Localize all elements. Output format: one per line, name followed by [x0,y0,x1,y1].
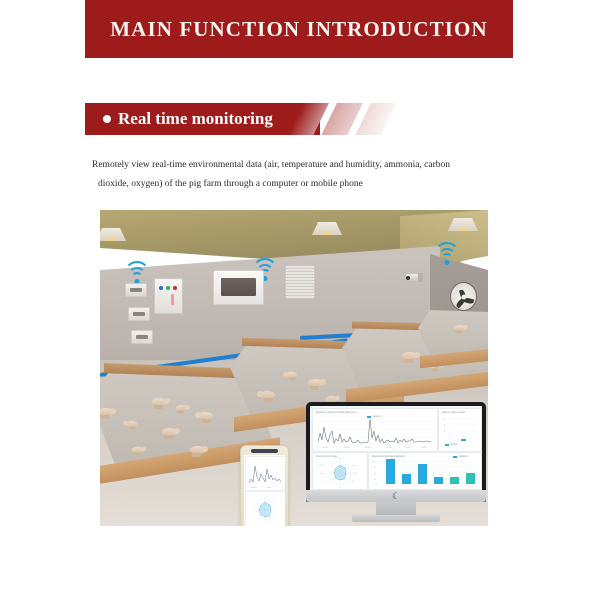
pig-pen-4 [418,310,488,368]
phone-screen: MorningNight [244,455,285,526]
pig-13 [402,352,417,360]
svg-text:B: B [405,487,407,489]
section-title: Real time monitoring [118,109,273,129]
led-indicator-green [166,286,170,290]
svg-text:PM2.5: PM2.5 [319,465,324,467]
pig-8 [190,446,205,454]
pig-16 [454,325,466,331]
pig-10 [308,379,323,387]
phone-radar-chart-svg [246,492,285,526]
svg-text:60: 60 [374,473,377,475]
wifi-signal-icon-3 [434,248,460,265]
pig-6 [100,408,113,416]
gauge-chart-card[interactable]: Device online status 108 [438,408,482,452]
svg-text:40: 40 [374,479,377,481]
svg-text:8: 8 [444,425,446,427]
bullet-dot-icon [103,115,111,123]
phone-line-chart-svg: MorningNight [246,457,285,490]
legend-label: Statistics [459,455,469,458]
svg-text:80: 80 [374,467,377,469]
page-root: MAIN FUNCTION INTRODUCTION Real time mon… [0,0,600,600]
pig-5 [126,421,138,427]
wifi-signal-icon-1 [124,267,150,284]
pig-2 [176,405,188,411]
svg-text:O2: O2 [338,487,340,489]
x-tick-4: 16:00 [405,447,411,449]
bar-chart-card[interactable]: Environmental data statistics Statistics [368,452,482,490]
line-chart-card[interactable]: Real-time environmental data trend Senso… [312,408,438,452]
bar-chart-svg: 10080 604020 ABC [369,453,481,489]
pig-1 [152,398,167,406]
monitor-screen: Real-time environmental data trend Senso… [310,406,482,490]
svg-text:E: E [453,487,455,489]
svg-text:4: 4 [444,437,446,439]
legend-swatch-icon [367,416,371,418]
phone-radar-chart-card[interactable] [245,491,285,526]
description-line-2: dioxide, oxygen) of the pig farm through… [92,175,512,194]
section-heading-bar: Real time monitoring [85,103,375,135]
line-chart-legend: Sensor 1 [367,415,382,418]
page-title: MAIN FUNCTION INTRODUCTION [110,17,487,42]
svg-text:10: 10 [443,419,446,421]
radar-chart-title: Environment index [316,455,337,458]
svg-text:20: 20 [375,484,378,486]
bar-chart-legend: Statistics [453,455,468,458]
desktop-monitor: Real-time environmental data trend Senso… [306,402,486,526]
phone-line-chart-card[interactable]: MorningNight [245,456,285,491]
pig-7 [132,447,144,453]
legend-label: Online [451,443,458,446]
ventilation-grille [285,265,315,299]
gauge-chart-legend: Online [445,443,457,446]
pig-3 [198,412,213,420]
legend-swatch-icon [453,456,457,458]
header-banner: MAIN FUNCTION INTRODUCTION [85,0,513,58]
monitor-bezel: Real-time environmental data trend Senso… [306,402,486,502]
svg-text:NH3: NH3 [353,473,357,475]
wall-sensor-device-3 [131,330,153,344]
panel-slot [171,294,174,305]
pig-12 [260,391,275,399]
wall-sensor-device-1 [125,283,147,297]
led-indicator-red [173,286,177,290]
monitor-stand-neck [376,502,416,516]
svg-text:Hum: Hum [352,465,356,467]
x-tick-1: 04:00 [344,447,350,449]
dashboard: Real-time environmental data trend Senso… [310,406,482,490]
x-tick-3: 12:00 [386,447,392,449]
svg-text:D: D [437,487,439,489]
wall-sensor-device-2 [128,307,150,321]
radar-chart-card[interactable]: Environment index [312,452,368,490]
gauge-chart-title: Device online status [442,411,465,414]
led-indicator-blue [159,286,163,290]
description-line-1: Remotely view real-time environmental da… [92,160,450,170]
bar-chart-title: Environmental data statistics [372,455,405,458]
section-stripe-3 [355,103,397,135]
security-camera-icon [406,273,423,282]
legend-swatch-icon [445,444,449,446]
svg-text:100: 100 [372,461,376,463]
svg-text:C: C [421,487,423,489]
legend-label: Sensor 1 [373,415,383,418]
wall-display-screen [213,270,264,305]
svg-text:F: F [469,487,471,489]
description-paragraph: Remotely view real-time environmental da… [92,156,512,194]
exhaust-fan-icon [450,282,477,311]
svg-text:CO2: CO2 [351,481,355,483]
radar-chart-svg: TempHum NH3CO2 O2Dust WindPM2.5 [313,453,367,489]
svg-text:Dust: Dust [321,480,325,483]
pig-9 [286,372,298,378]
x-tick-5: 20:00 [421,447,427,449]
svg-text:Night: Night [267,486,271,489]
phone-speaker-bar [251,449,278,453]
svg-text:Temp: Temp [337,458,341,460]
x-tick-0: 00:00 [323,447,329,449]
svg-text:A: A [389,486,391,489]
control-panel [154,278,183,314]
monitor-stand-base [352,515,440,522]
svg-text:Wind: Wind [320,473,324,475]
pig-farm-illustration: Real-time environmental data trend Senso… [100,210,488,526]
svg-text:Morning: Morning [251,486,257,489]
monitor-logo-icon: ☾ [392,492,400,501]
monitor-chin: ☾ [306,490,486,502]
svg-text:6: 6 [444,431,446,433]
smartphone: MorningNight [240,445,289,526]
section-title-group: Real time monitoring [103,103,273,135]
line-chart-title: Real-time environmental data trend [316,411,357,414]
x-tick-2: 08:00 [365,447,371,449]
pig-4 [162,428,177,436]
